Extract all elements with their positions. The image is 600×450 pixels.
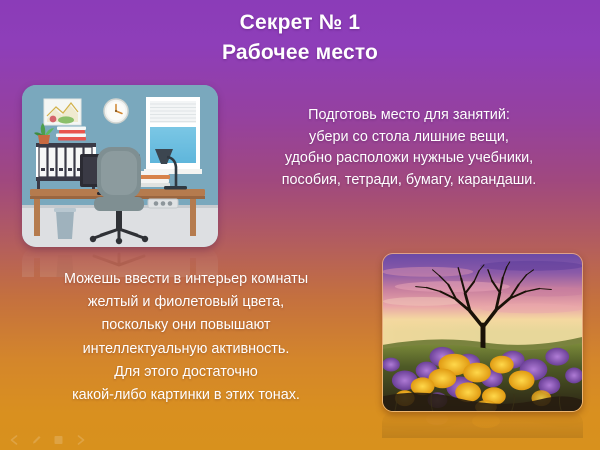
color-advice-line-6: какой-либо картинки в этих тонах. (0, 384, 372, 407)
arrow-right-icon[interactable] (74, 434, 87, 446)
shelf-books (56, 127, 86, 141)
instruction-line-2: убери со стола лишние вещи, (220, 127, 598, 149)
color-advice-line-4: интеллектуальную активность. (0, 338, 372, 361)
color-advice-line-3: поскольку они повышают (0, 314, 372, 337)
color-advice-paragraph: Можешь ввести в интерьер комнаты желтый … (0, 268, 372, 407)
window-with-blinds (144, 97, 202, 174)
wall-clock (104, 99, 128, 123)
pencil-icon[interactable] (30, 434, 43, 446)
page-title: Секрет № 1 Рабочее место (0, 8, 600, 68)
title-line-2: Рабочее место (0, 38, 600, 68)
color-advice-line-1: Можешь ввести в интерьер комнаты (0, 268, 372, 291)
instruction-line-1: Подготовь место для занятий: (220, 105, 598, 127)
framed-picture (44, 99, 81, 125)
arrow-left-icon[interactable] (8, 434, 21, 446)
office-illustration-card (22, 85, 218, 247)
power-strip (148, 199, 178, 208)
instruction-paragraph: Подготовь место для занятий: убери со ст… (220, 105, 598, 191)
nature-photo (382, 253, 583, 412)
bottom-bar-icons[interactable] (8, 434, 87, 446)
color-advice-line-5: Для этого достаточно (0, 361, 372, 384)
instruction-line-4: пособия, тетради, бумагу, карандаши. (220, 170, 598, 192)
title-line-1: Секрет № 1 (0, 8, 600, 38)
office-illustration-svg (22, 85, 218, 247)
nature-photo-svg (383, 254, 582, 411)
color-advice-line-2: желтый и фиолетовый цвета, (0, 291, 372, 314)
stacked-books (137, 171, 170, 187)
slide: Секрет № 1 Рабочее место (0, 0, 600, 450)
note-icon[interactable] (52, 434, 65, 446)
instruction-line-3: удобно расположи нужные учебники, (220, 148, 598, 170)
bottom-bar (0, 428, 600, 450)
